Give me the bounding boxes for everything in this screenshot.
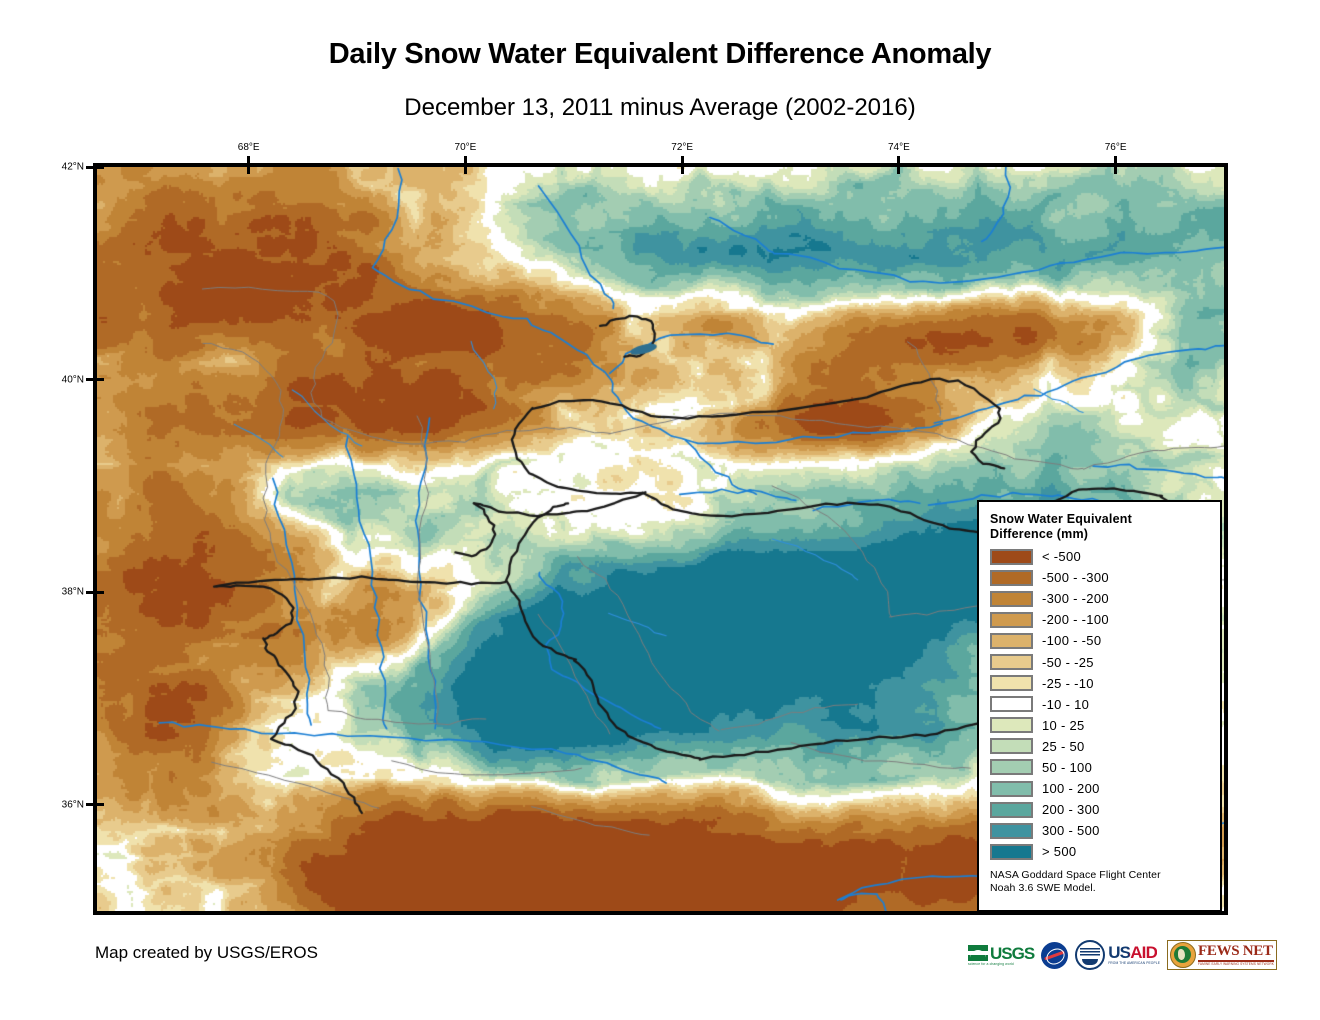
lon-tick-mark	[1114, 156, 1117, 164]
legend-label: -50 - -25	[1042, 655, 1094, 670]
lon-tick-label: 68°E	[238, 142, 260, 153]
usaid-logo-text: USAID	[1108, 944, 1157, 961]
legend-label: 300 - 500	[1042, 823, 1100, 838]
legend-label: 25 - 50	[1042, 739, 1085, 754]
legend-source: NASA Goddard Space Flight Center Noah 3.…	[990, 869, 1210, 895]
legend-swatch	[990, 802, 1033, 818]
legend-row[interactable]: -200 - -100	[990, 609, 1210, 630]
legend-row[interactable]: -10 - 10	[990, 694, 1210, 715]
lon-tick-label: 72°E	[671, 142, 693, 153]
legend-row[interactable]: -100 - -50	[990, 630, 1210, 651]
nasa-meatball-icon	[1041, 942, 1068, 969]
legend-label: -25 - -10	[1042, 676, 1094, 691]
legend-swatch	[990, 633, 1033, 649]
lat-tick-mark	[86, 803, 94, 806]
legend-swatch	[990, 612, 1033, 628]
usaid-logo[interactable]: USAID FROM THE AMERICAN PEOPLE	[1075, 938, 1160, 972]
lat-tick-mark	[86, 378, 94, 381]
lon-tick-mark	[897, 156, 900, 164]
legend-label: -10 - 10	[1042, 697, 1089, 712]
legend-row[interactable]: -25 - -10	[990, 673, 1210, 694]
lon-tick-mark	[681, 156, 684, 164]
legend-label: < -500	[1042, 549, 1081, 564]
fews-globe-icon	[1170, 942, 1196, 968]
lon-tick-mark	[247, 156, 250, 164]
map-credit: Map created by USGS/EROS	[95, 943, 318, 963]
legend-label: 50 - 100	[1042, 760, 1092, 775]
legend-label: 10 - 25	[1042, 718, 1085, 733]
lat-tick-inner	[97, 803, 104, 806]
lon-tick-label: 74°E	[888, 142, 910, 153]
lat-tick-label: 42°N	[48, 162, 84, 173]
legend-panel[interactable]: Snow Water Equivalent Difference (mm) < …	[977, 500, 1222, 912]
page-title: Daily Snow Water Equivalent Difference A…	[0, 38, 1320, 71]
legend-title-line2: Difference (mm)	[990, 527, 1210, 542]
lat-tick-inner	[97, 591, 104, 594]
usaid-seal-icon	[1075, 940, 1105, 970]
usgs-logo-text: USGS	[990, 945, 1034, 962]
legend-class-list: < -500-500 - -300-300 - -200-200 - -100-…	[990, 546, 1210, 862]
fews-net-logo[interactable]: FEWS NET FAMINE EARLY WARNING SYSTEMS NE…	[1167, 938, 1277, 972]
lon-tick-mark	[464, 156, 467, 164]
legend-row[interactable]: -50 - -25	[990, 651, 1210, 672]
lat-tick-inner	[97, 378, 104, 381]
lat-tick-mark	[86, 591, 94, 594]
legend-label: 100 - 200	[1042, 781, 1100, 796]
legend-swatch	[990, 781, 1033, 797]
legend-label: -200 - -100	[1042, 612, 1109, 627]
legend-swatch	[990, 738, 1033, 754]
lon-tick-inner	[464, 167, 467, 174]
legend-row[interactable]: 10 - 25	[990, 715, 1210, 736]
legend-swatch	[990, 570, 1033, 586]
legend-row[interactable]: < -500	[990, 546, 1210, 567]
lon-tick-inner	[247, 167, 250, 174]
usgs-logo[interactable]: USGS science for a changing world	[968, 938, 1034, 972]
lat-tick-inner	[97, 166, 104, 169]
agency-logo-bar: USGS science for a changing world USAID …	[968, 936, 1277, 974]
legend-swatch	[990, 759, 1033, 775]
legend-row[interactable]: 50 - 100	[990, 757, 1210, 778]
usgs-logo-tagline: science for a changing world	[968, 962, 1014, 966]
legend-row[interactable]: 200 - 300	[990, 799, 1210, 820]
legend-row[interactable]: 300 - 500	[990, 820, 1210, 841]
usaid-logo-tagline: FROM THE AMERICAN PEOPLE	[1108, 962, 1160, 965]
usgs-wave-icon	[968, 945, 988, 961]
legend-title: Snow Water Equivalent Difference (mm)	[990, 512, 1210, 542]
fews-logo-text: FEWS NET	[1198, 944, 1273, 959]
legend-label: -500 - -300	[1042, 570, 1109, 585]
legend-label: -100 - -50	[1042, 633, 1101, 648]
legend-title-line1: Snow Water Equivalent	[990, 512, 1210, 527]
fews-logo-tagline: FAMINE EARLY WARNING SYSTEMS NETWORK	[1198, 963, 1274, 966]
legend-row[interactable]: -300 - -200	[990, 588, 1210, 609]
lon-tick-inner	[1114, 167, 1117, 174]
legend-swatch	[990, 549, 1033, 565]
legend-label: -300 - -200	[1042, 591, 1109, 606]
lat-tick-label: 38°N	[48, 587, 84, 598]
legend-swatch	[990, 675, 1033, 691]
legend-source-line2: Noah 3.6 SWE Model.	[990, 882, 1210, 895]
lon-tick-inner	[897, 167, 900, 174]
lat-tick-label: 40°N	[48, 374, 84, 385]
legend-swatch	[990, 591, 1033, 607]
legend-source-line1: NASA Goddard Space Flight Center	[990, 869, 1210, 882]
lat-tick-mark	[86, 166, 94, 169]
legend-swatch	[990, 717, 1033, 733]
legend-row[interactable]: 100 - 200	[990, 778, 1210, 799]
legend-swatch	[990, 844, 1033, 860]
page-subtitle: December 13, 2011 minus Average (2002-20…	[0, 94, 1320, 122]
lon-tick-label: 70°E	[455, 142, 477, 153]
legend-row[interactable]: -500 - -300	[990, 567, 1210, 588]
legend-label: > 500	[1042, 844, 1076, 859]
legend-swatch	[990, 654, 1033, 670]
lat-tick-label: 36°N	[48, 799, 84, 810]
lon-tick-label: 76°E	[1105, 142, 1127, 153]
lon-tick-inner	[681, 167, 684, 174]
legend-swatch	[990, 696, 1033, 712]
legend-row[interactable]: 25 - 50	[990, 736, 1210, 757]
legend-label: 200 - 300	[1042, 802, 1100, 817]
legend-swatch	[990, 823, 1033, 839]
nasa-logo[interactable]	[1041, 938, 1068, 972]
legend-row[interactable]: > 500	[990, 841, 1210, 862]
